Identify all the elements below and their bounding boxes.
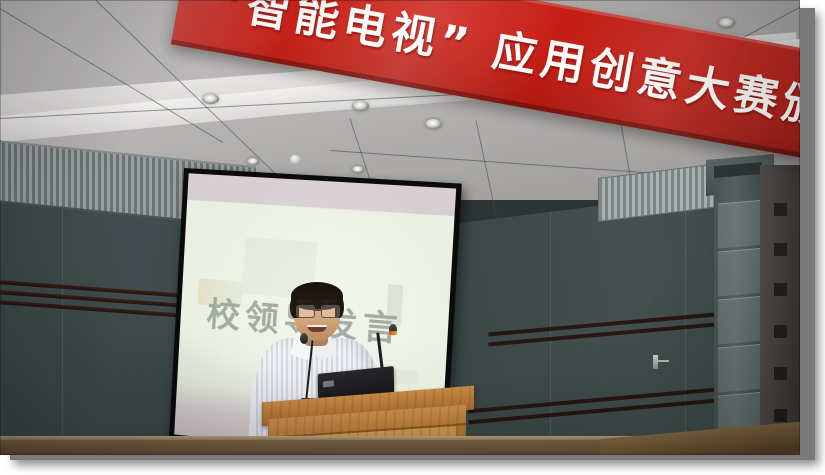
shelf-slot: [718, 296, 764, 345]
wall-detail-square: [774, 409, 787, 422]
wall-detail-square: [774, 203, 787, 216]
ceiling-downlight: [718, 18, 735, 28]
ceiling-downlight: [425, 119, 442, 129]
photo-frame: 校领导发言: [0, 0, 825, 475]
ceiling-downlight: [202, 94, 219, 104]
microphone-indicator-light: [389, 331, 397, 335]
wall-detail-square: [774, 283, 787, 296]
wall-detail-square: [774, 243, 787, 256]
microphone-head: [300, 333, 308, 344]
shelf-slot: [718, 344, 764, 393]
ceiling-downlight: [352, 101, 369, 111]
wall-panel-seam: [62, 166, 63, 455]
ceiling-downlight: [352, 166, 364, 173]
glasses-icon: [295, 305, 340, 316]
shelf-slot: [718, 248, 764, 297]
presenter-eyebrow: [297, 300, 312, 303]
smoke-detector-icon: [290, 155, 301, 164]
door-handle[interactable]: [653, 355, 658, 369]
wall-detail-square: [774, 325, 787, 338]
ceiling-downlight: [247, 158, 259, 165]
laptop-logo-icon: [323, 380, 334, 387]
wall-detail-square: [774, 367, 787, 380]
shelf-slot: [718, 200, 764, 249]
wall-far-right: [760, 165, 800, 455]
wall-panel-seam: [550, 212, 551, 455]
glasses-lens: [321, 305, 340, 318]
glasses-lens: [296, 305, 315, 318]
glasses-bridge: [313, 309, 321, 311]
presenter-eyebrow: [322, 300, 337, 303]
event-photograph: 校领导发言: [0, 0, 800, 455]
